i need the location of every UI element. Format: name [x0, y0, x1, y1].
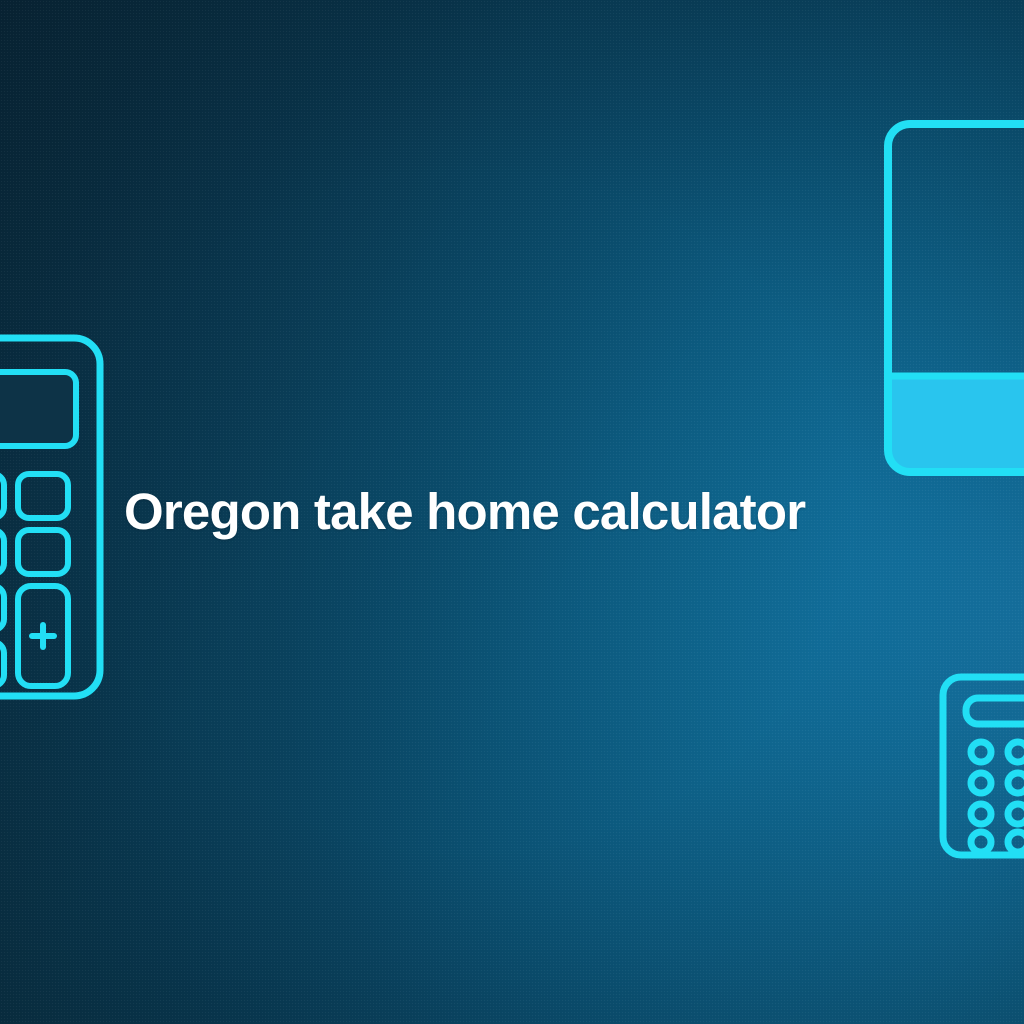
title-block: Oregon take home calculator: [124, 476, 924, 548]
hero-banner: Oregon take home calculator: [0, 0, 1024, 1024]
page-title: Oregon take home calculator: [124, 481, 805, 543]
